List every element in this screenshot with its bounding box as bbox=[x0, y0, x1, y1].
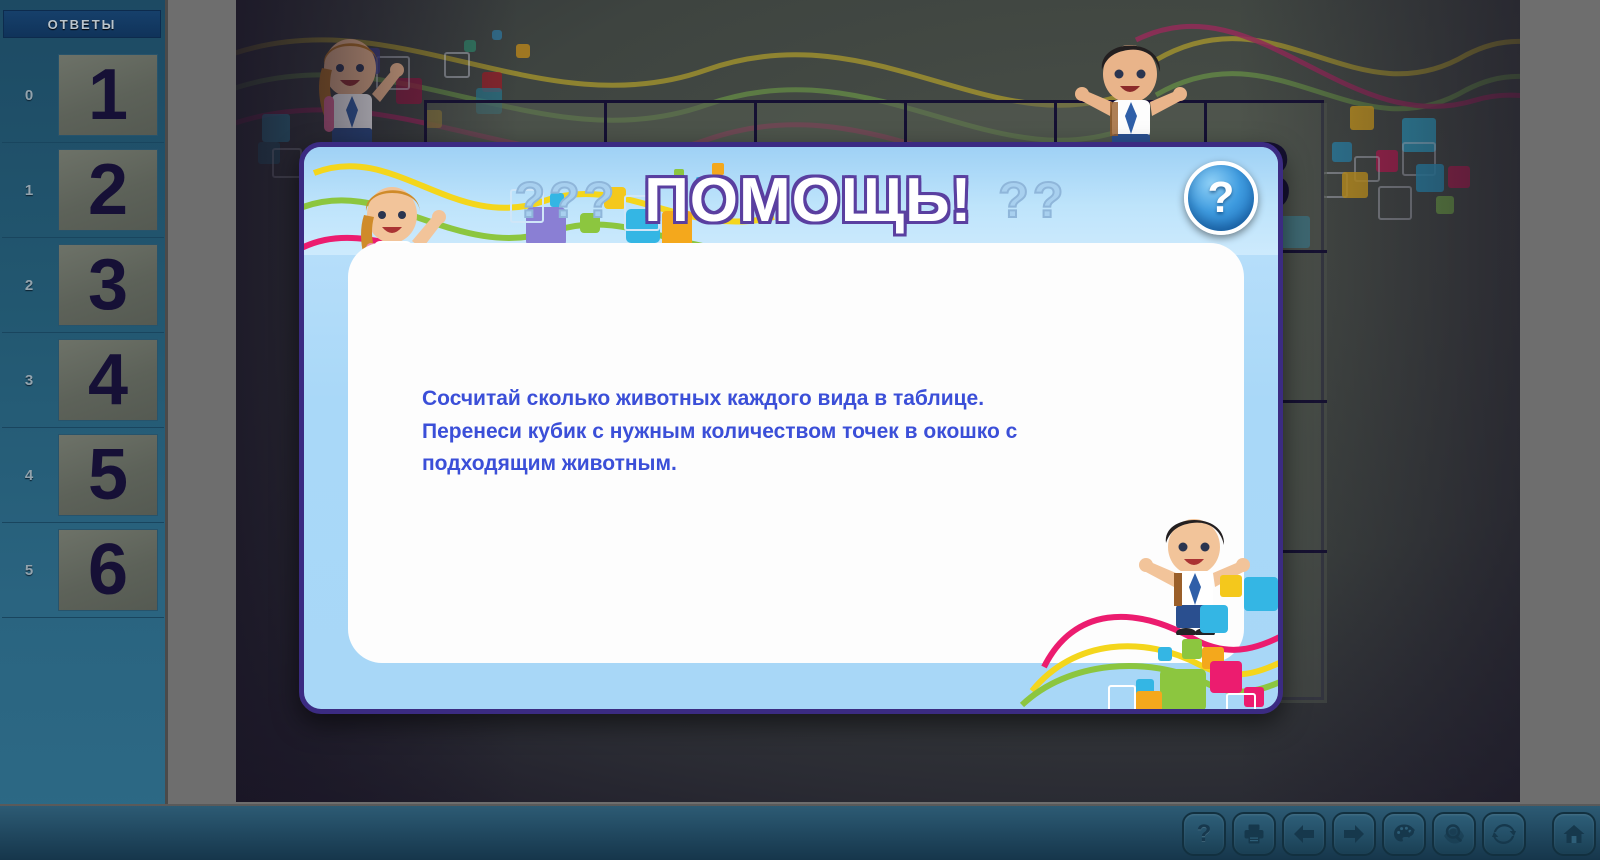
answer-index: 4 bbox=[2, 467, 56, 484]
decor-square bbox=[492, 30, 502, 40]
question-marks-left: ??? bbox=[515, 171, 619, 229]
bottom-toolbar: ? bbox=[0, 804, 1600, 860]
answer-tile[interactable]: 4 bbox=[58, 339, 158, 421]
boy-character-dialog bbox=[1132, 505, 1258, 635]
answer-row[interactable]: 1 2 bbox=[2, 143, 164, 238]
decor-square bbox=[1332, 142, 1352, 162]
dialog-title: ПОМОЩЬ! bbox=[644, 165, 972, 236]
decor-square-outline bbox=[1108, 685, 1136, 713]
question-icon: ? bbox=[1208, 176, 1235, 220]
decor-square bbox=[464, 40, 476, 52]
answer-row[interactable]: 2 3 bbox=[2, 238, 164, 333]
dialog-title-row: ??? ПОМОЩЬ! ?? bbox=[304, 165, 1278, 235]
answers-sidebar: ОТВЕТЫ 0 1 1 2 2 3 3 4 4 bbox=[0, 0, 168, 860]
instruction-line: Перенеси кубик с нужным количеством точе… bbox=[422, 416, 1122, 449]
decor-square bbox=[1220, 575, 1242, 597]
decor-square bbox=[1136, 691, 1162, 714]
help-button[interactable]: ? bbox=[1182, 812, 1226, 856]
instruction-line: Сосчитай сколько животных каждого вида в… bbox=[422, 383, 1122, 416]
decor-square bbox=[1200, 605, 1228, 633]
decor-square bbox=[516, 44, 530, 58]
answer-value: 4 bbox=[88, 344, 128, 416]
refresh-button[interactable] bbox=[1482, 812, 1526, 856]
question-icon: ? bbox=[1197, 822, 1212, 846]
print-button[interactable] bbox=[1232, 812, 1276, 856]
arrow-right-icon bbox=[1341, 822, 1367, 846]
answer-tile[interactable]: 6 bbox=[58, 529, 158, 611]
magnifier-icon bbox=[1442, 822, 1466, 846]
palette-icon bbox=[1392, 822, 1416, 846]
forward-button[interactable] bbox=[1332, 812, 1376, 856]
app-root: 2 1 3 bbox=[0, 0, 1600, 860]
answer-row[interactable]: 5 6 bbox=[2, 523, 164, 618]
decor-square bbox=[1436, 196, 1454, 214]
decor-square bbox=[1448, 166, 1470, 188]
decor-square bbox=[1244, 577, 1278, 611]
answer-value: 2 bbox=[88, 154, 128, 226]
decor-square bbox=[1342, 172, 1368, 198]
answer-index: 3 bbox=[2, 372, 56, 389]
answer-index: 2 bbox=[2, 277, 56, 294]
instruction-line: подходящим животным. bbox=[422, 448, 1122, 481]
help-dialog: ??? ПОМОЩЬ! ?? ? Сосчитай сколько животн… bbox=[299, 142, 1283, 714]
home-icon bbox=[1562, 822, 1586, 846]
answer-value: 6 bbox=[88, 534, 128, 606]
decor-square bbox=[1158, 647, 1172, 661]
answer-index: 0 bbox=[2, 87, 56, 104]
decor-square bbox=[1210, 661, 1242, 693]
answer-row[interactable]: 4 5 bbox=[2, 428, 164, 523]
decor-square-outline bbox=[1226, 693, 1256, 714]
arrow-left-icon bbox=[1291, 822, 1317, 846]
answer-row[interactable]: 3 4 bbox=[2, 333, 164, 428]
home-button[interactable] bbox=[1552, 812, 1596, 856]
decor-square bbox=[262, 114, 290, 142]
decor-square-outline bbox=[1378, 186, 1412, 220]
answer-tile[interactable]: 3 bbox=[58, 244, 158, 326]
decor-square bbox=[1182, 639, 1202, 659]
dialog-instructions: Сосчитай сколько животных каждого вида в… bbox=[422, 383, 1122, 481]
answer-value: 5 bbox=[88, 439, 128, 511]
question-marks-right: ?? bbox=[998, 171, 1067, 229]
answer-value: 1 bbox=[88, 59, 128, 131]
refresh-icon bbox=[1492, 822, 1516, 846]
answers-title: ОТВЕТЫ bbox=[48, 17, 117, 32]
decor-square bbox=[1350, 106, 1374, 130]
answer-value: 3 bbox=[88, 249, 128, 321]
answers-header: ОТВЕТЫ bbox=[3, 10, 161, 38]
answer-row[interactable]: 0 1 bbox=[2, 48, 164, 143]
answer-index: 1 bbox=[2, 182, 56, 199]
toolbar-button-group: ? bbox=[1182, 812, 1596, 856]
answer-tile[interactable]: 1 bbox=[58, 54, 158, 136]
decor-square-outline bbox=[444, 52, 470, 78]
back-button[interactable] bbox=[1282, 812, 1326, 856]
decor-square bbox=[1160, 669, 1206, 711]
answer-tile[interactable]: 2 bbox=[58, 149, 158, 231]
printer-icon bbox=[1242, 822, 1266, 846]
search-button[interactable] bbox=[1432, 812, 1476, 856]
decor-square bbox=[1416, 164, 1444, 192]
answer-index: 5 bbox=[2, 562, 56, 579]
answer-tile[interactable]: 5 bbox=[58, 434, 158, 516]
help-icon-button[interactable]: ? bbox=[1184, 161, 1258, 235]
palette-button[interactable] bbox=[1382, 812, 1426, 856]
